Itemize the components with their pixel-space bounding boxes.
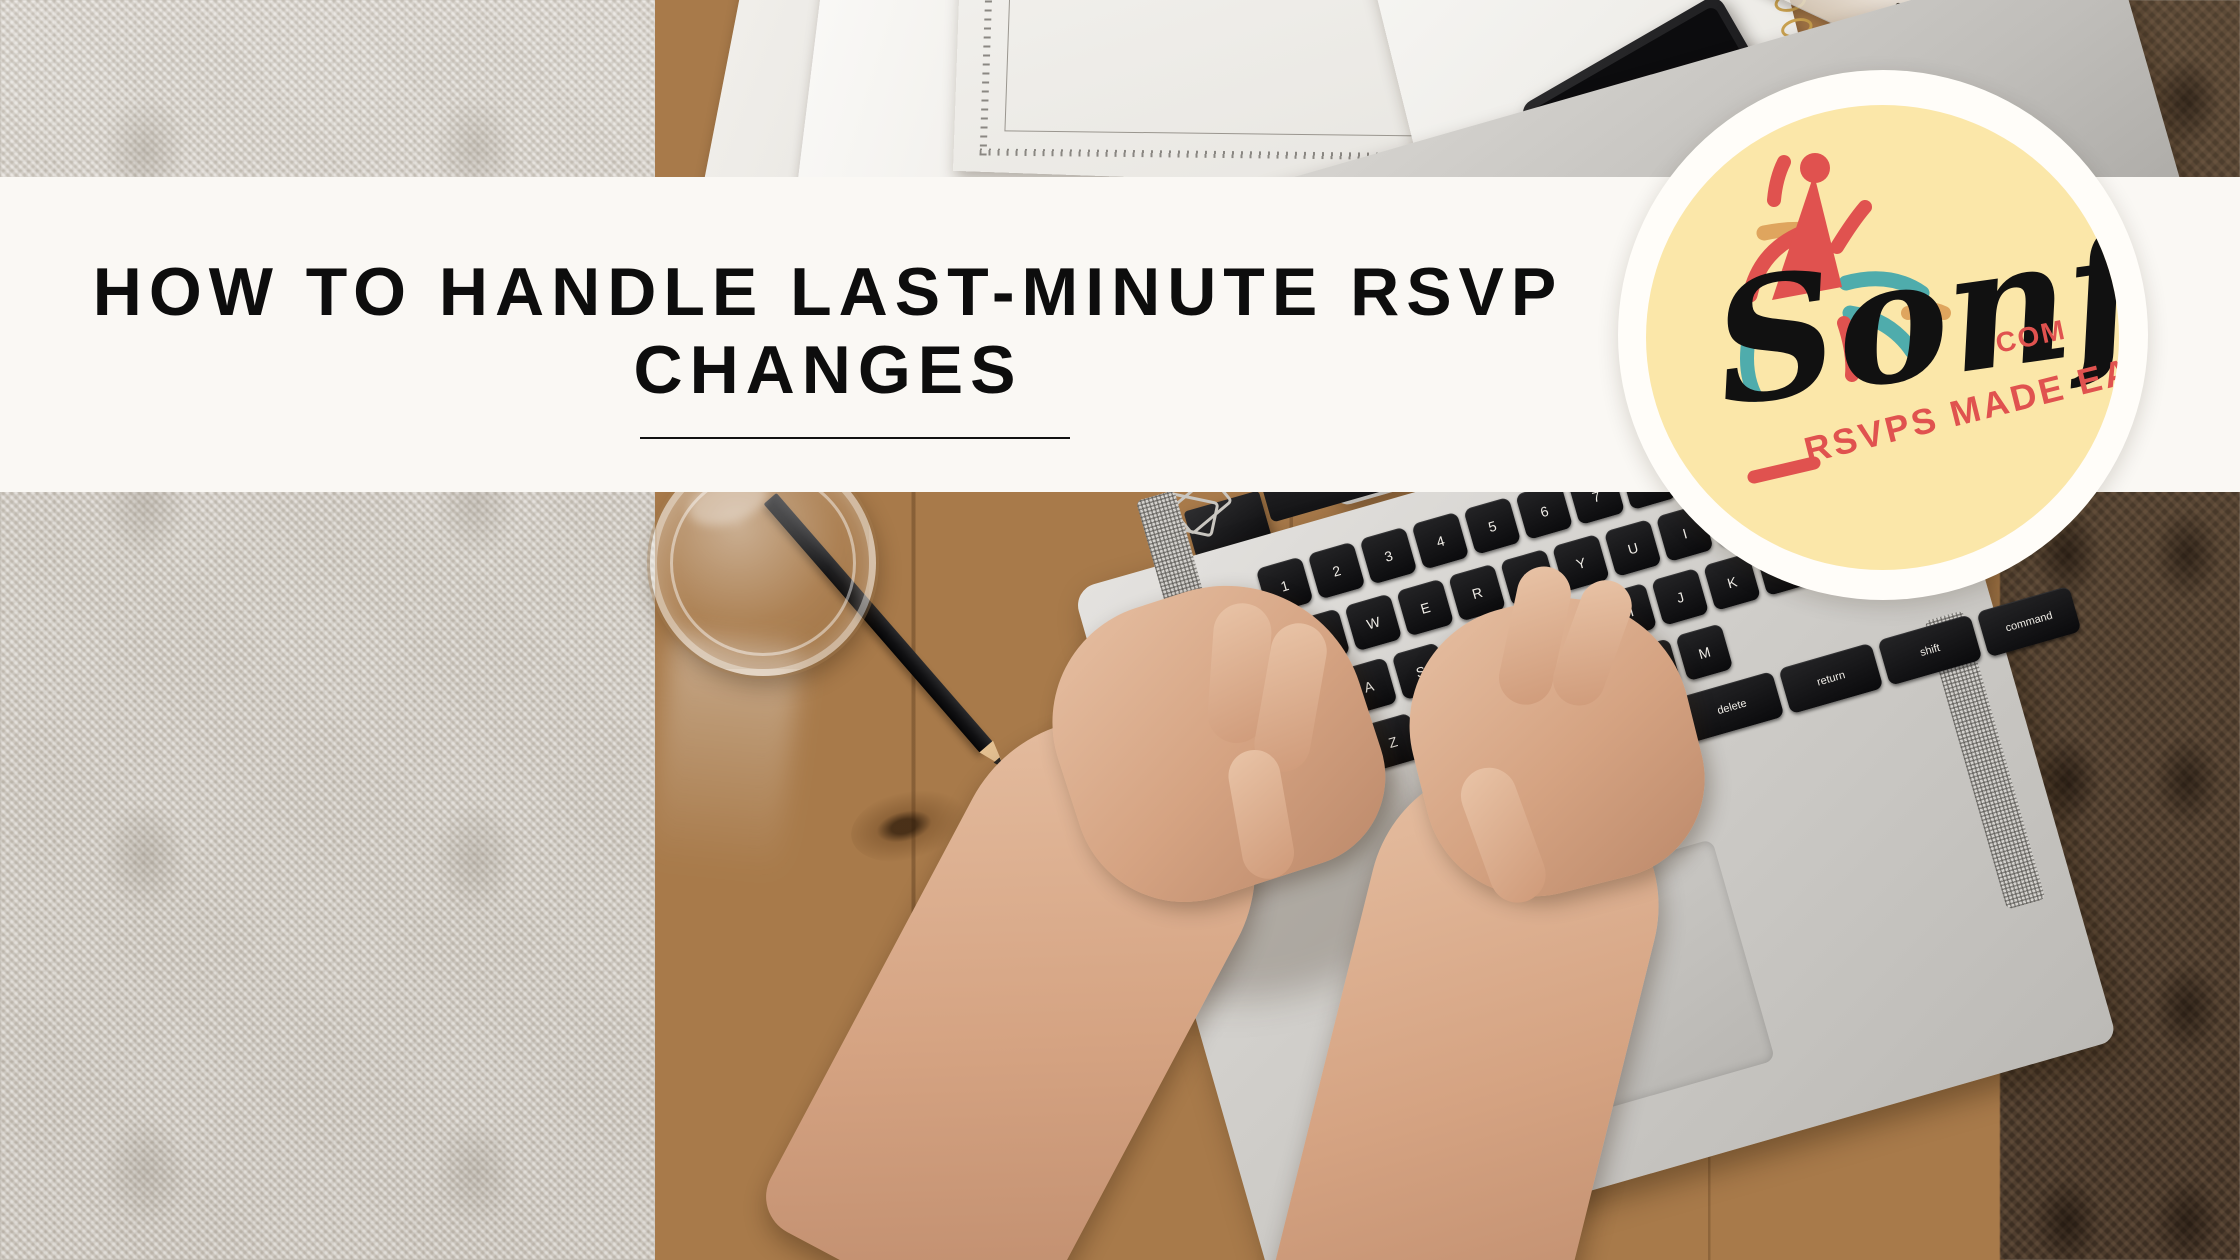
sonfie-logo-artwork: Sonfie COM RSVPS MADE EASY — [1646, 105, 2119, 570]
notebook-inner-box — [1004, 0, 1437, 137]
blog-header-image: 13 14 15 16 17 18 1234567890-= — [0, 0, 2240, 1260]
keyboard-key: E — [1396, 578, 1454, 636]
keyboard-key: M — [1675, 623, 1733, 681]
keyboard-key: J — [1651, 568, 1709, 626]
logo-badge-fill: Sonfie COM RSVPS MADE EASY — [1646, 105, 2119, 570]
sonfie-logo-badge[interactable]: Sonfie COM RSVPS MADE EASY — [1618, 70, 2148, 600]
title-divider — [640, 437, 1070, 439]
tagline-dash — [1754, 463, 1814, 477]
keyboard-key: shift — [1877, 614, 1982, 686]
keyboard-key: W — [1344, 593, 1402, 651]
party-hat-pom — [1800, 153, 1830, 183]
page-title: HOW TO HANDLE LAST-MINUTE RSVP CHANGES — [48, 253, 1608, 409]
keyboard-key: return — [1778, 643, 1883, 715]
